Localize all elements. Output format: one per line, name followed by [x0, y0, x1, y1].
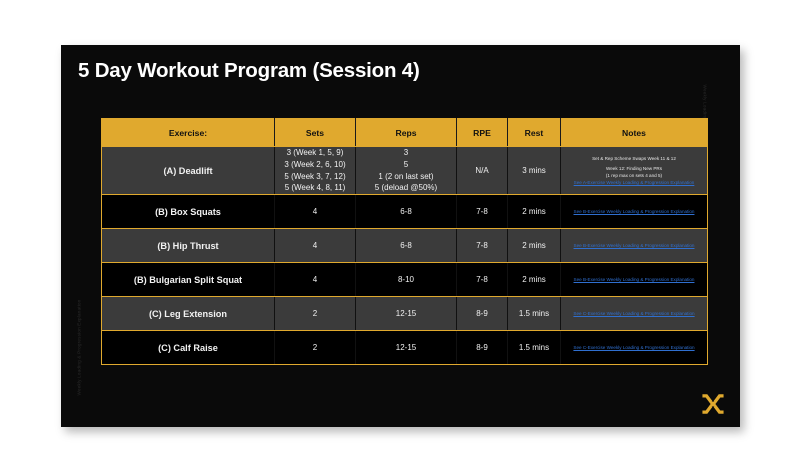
note-line: Set & Rep Scheme Swaps Week 11 & 12	[565, 155, 703, 162]
cell-line: 1 (2 on last set)	[356, 171, 456, 183]
column-header-reps: Reps	[356, 119, 457, 147]
column-header-notes: Notes	[561, 119, 708, 147]
table-row: (C) Leg Extension212-158-91.5 minsSee C-…	[102, 297, 708, 331]
cell-notes-2: See B-Exercise Weekly Loading & Progress…	[561, 229, 708, 263]
cell-rest-4: 1.5 mins	[508, 297, 561, 331]
cell-line: 5 (Week 4, 8, 11)	[275, 182, 355, 194]
cell-line: 2	[275, 308, 355, 320]
cell-rpe-0: N/A	[457, 147, 508, 195]
brand-monogram-logo	[700, 391, 726, 417]
table-header-row: Exercise: Sets Reps RPE Rest Notes	[102, 119, 708, 147]
note-line: Week 12: Finding New PRs	[565, 165, 703, 172]
column-header-exercise: Exercise:	[102, 119, 275, 147]
note-line: (1 rep max on sets 4 and 5)	[565, 172, 703, 179]
cell-exercise-5: (C) Calf Raise	[102, 331, 275, 365]
cell-sets-1: 4	[275, 195, 356, 229]
cell-sets-0: 3 (Week 1, 5, 9)3 (Week 2, 6, 10)5 (Week…	[275, 147, 356, 195]
table-row: (C) Calf Raise212-158-91.5 minsSee C-Exe…	[102, 331, 708, 365]
table-header: Exercise: Sets Reps RPE Rest Notes	[102, 119, 708, 147]
presentation-slide: 5 Day Workout Program (Session 4) Weekly…	[61, 45, 740, 427]
cell-line: 12-15	[356, 308, 456, 320]
table-body: (A) Deadlift3 (Week 1, 5, 9)3 (Week 2, 6…	[102, 147, 708, 365]
cell-line: 8-10	[356, 274, 456, 286]
cell-exercise-4: (C) Leg Extension	[102, 297, 275, 331]
cell-rest-2: 2 mins	[508, 229, 561, 263]
column-header-rpe: RPE	[457, 119, 508, 147]
cell-line: 5 (deload @50%)	[356, 182, 456, 194]
cell-exercise-3: (B) Bulgarian Split Squat	[102, 263, 275, 297]
notes-link-5[interactable]: See C-Exercise Weekly Loading & Progress…	[565, 344, 703, 351]
cell-line: 4	[275, 206, 355, 218]
cell-rpe-3: 7-8	[457, 263, 508, 297]
notes-link-0[interactable]: See A-Exercise Weekly Loading & Progress…	[565, 179, 703, 186]
watermark-left-text: Weekly Loading & Progression Explanation	[77, 299, 82, 395]
cell-reps-4: 12-15	[356, 297, 457, 331]
notes-link-1[interactable]: See B-Exercise Weekly Loading & Progress…	[565, 208, 703, 215]
cell-rpe-5: 8-9	[457, 331, 508, 365]
cell-reps-2: 6-8	[356, 229, 457, 263]
cell-line: 3 (Week 1, 5, 9)	[275, 147, 355, 159]
cell-rest-5: 1.5 mins	[508, 331, 561, 365]
cell-rest-0: 3 mins	[508, 147, 561, 195]
column-header-rest: Rest	[508, 119, 561, 147]
cell-exercise-1: (B) Box Squats	[102, 195, 275, 229]
cell-line: 3	[356, 147, 456, 159]
cell-reps-5: 12-15	[356, 331, 457, 365]
column-header-sets: Sets	[275, 119, 356, 147]
cell-reps-1: 6-8	[356, 195, 457, 229]
table-row: (B) Hip Thrust46-87-82 minsSee B-Exercis…	[102, 229, 708, 263]
cell-line: 3 (Week 2, 6, 10)	[275, 159, 355, 171]
cell-sets-4: 2	[275, 297, 356, 331]
cell-rest-1: 2 mins	[508, 195, 561, 229]
cell-line: 5 (Week 3, 7, 12)	[275, 171, 355, 183]
cell-notes-3: See B-Exercise Weekly Loading & Progress…	[561, 263, 708, 297]
cell-exercise-0: (A) Deadlift	[102, 147, 275, 195]
cell-line: 4	[275, 240, 355, 252]
cell-line: 6-8	[356, 240, 456, 252]
cell-reps-0: 351 (2 on last set)5 (deload @50%)	[356, 147, 457, 195]
cell-sets-5: 2	[275, 331, 356, 365]
page-title: 5 Day Workout Program (Session 4)	[78, 59, 420, 83]
cell-notes-0: Set & Rep Scheme Swaps Week 11 & 12Week …	[561, 147, 708, 195]
cell-exercise-2: (B) Hip Thrust	[102, 229, 275, 263]
table-row: (B) Bulgarian Split Squat48-107-82 minsS…	[102, 263, 708, 297]
cell-notes-4: See C-Exercise Weekly Loading & Progress…	[561, 297, 708, 331]
cell-rest-3: 2 mins	[508, 263, 561, 297]
table-row: (B) Box Squats46-87-82 minsSee B-Exercis…	[102, 195, 708, 229]
cell-sets-3: 4	[275, 263, 356, 297]
workout-program-table: Exercise: Sets Reps RPE Rest Notes (A) D…	[101, 118, 708, 365]
notes-link-4[interactable]: See C-Exercise Weekly Loading & Progress…	[565, 310, 703, 317]
cell-reps-3: 8-10	[356, 263, 457, 297]
table-row: (A) Deadlift3 (Week 1, 5, 9)3 (Week 2, 6…	[102, 147, 708, 195]
cell-rpe-2: 7-8	[457, 229, 508, 263]
cell-line: 4	[275, 274, 355, 286]
cell-line: 6-8	[356, 206, 456, 218]
cell-sets-2: 4	[275, 229, 356, 263]
notes-link-3[interactable]: See B-Exercise Weekly Loading & Progress…	[565, 276, 703, 283]
cell-rpe-1: 7-8	[457, 195, 508, 229]
cell-notes-5: See C-Exercise Weekly Loading & Progress…	[561, 331, 708, 365]
cell-rpe-4: 8-9	[457, 297, 508, 331]
cell-line: 12-15	[356, 342, 456, 354]
notes-link-2[interactable]: See B-Exercise Weekly Loading & Progress…	[565, 242, 703, 249]
cell-notes-1: See B-Exercise Weekly Loading & Progress…	[561, 195, 708, 229]
cell-line: 2	[275, 342, 355, 354]
cell-line: 5	[356, 159, 456, 171]
